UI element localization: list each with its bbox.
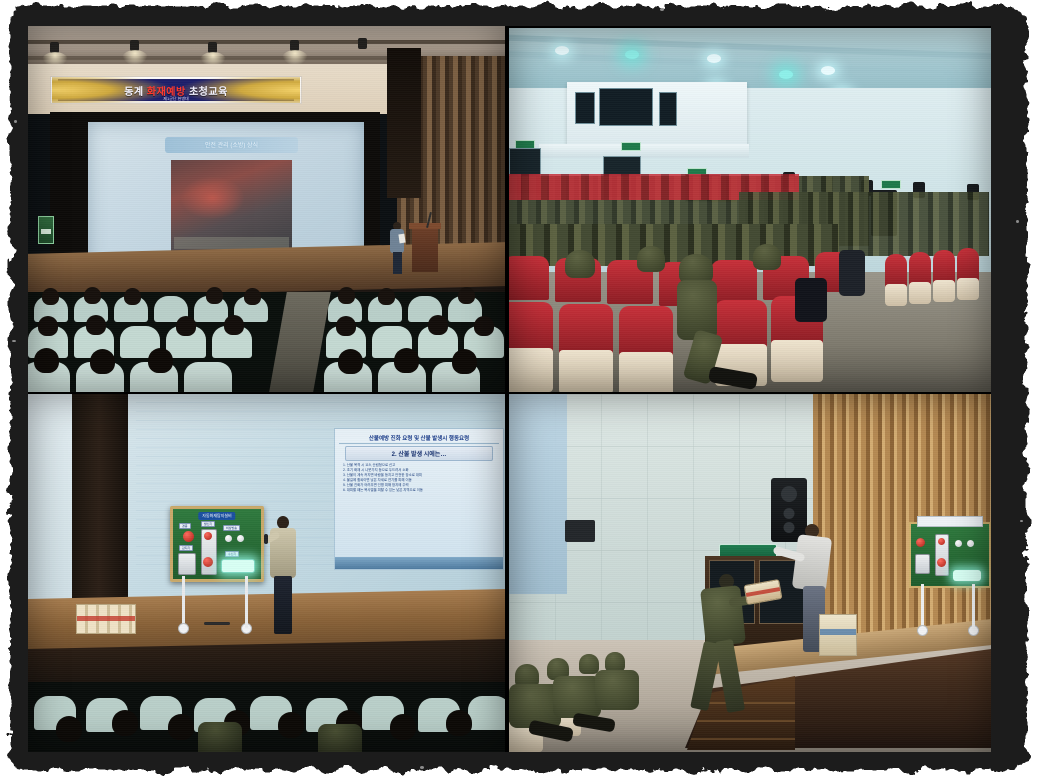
balcony-edge (539, 144, 749, 158)
frame-speckle (1020, 520, 1023, 522)
slide-bullet: 6. 대피할 때는 복사열을 피할 수 있는 낮은 지역으로 이동 (343, 488, 495, 493)
demo-label-bell: 경종 (179, 523, 191, 529)
booth-window (659, 92, 677, 126)
soldier-head (565, 250, 595, 278)
frame-speckle (12, 340, 16, 342)
spotlight-icon (358, 38, 367, 49)
indicator-lamp-icon (938, 538, 945, 545)
audience-area (28, 682, 505, 752)
audience-seating (509, 644, 659, 752)
collage-canvas: 동계 화재예방 초청교육 제1군단 헌병대 안전 관리 (소방) 상식 (0, 0, 1037, 780)
projection-booth (567, 82, 747, 148)
indicator-lamp-icon (204, 532, 212, 540)
downlight-icon (821, 66, 835, 75)
projected-taskbar (335, 557, 503, 569)
frame-speckle (420, 766, 424, 769)
exit-sign-icon (881, 180, 901, 189)
photo-grid: 동계 화재예방 초청교육 제1군단 헌병대 안전 관리 (소방) 상식 (28, 26, 991, 752)
caster-wheel (241, 623, 252, 634)
caster-wheel (968, 625, 979, 636)
demo-label-callpoint: 발신기 (201, 521, 215, 527)
frame-speckle (1016, 220, 1019, 223)
booth-window (575, 92, 595, 124)
seated-person-dark (839, 250, 865, 296)
lectern (412, 226, 438, 272)
detector-panel (915, 554, 930, 574)
slide-title: 산불예방 진화 요령 및 산불 발생시 행동요령 (339, 432, 499, 444)
indicator-strip (953, 570, 981, 581)
photo-bottom-left[interactable]: 산불예방 진화 요령 및 산불 발생시 행동요령 2. 산불 발생 시에는… 1… (28, 394, 505, 752)
demo-label-detector: 감지기 (179, 545, 193, 551)
fire-alarm-demo-board: 자동화재탐지설비 경종 감지기 발신기 비상방송 수신기 (170, 506, 264, 582)
emergency-button-icon (937, 558, 946, 567)
projection-spill (509, 394, 567, 594)
handheld-microphone-icon (264, 534, 268, 544)
presenter (390, 222, 404, 274)
banner-subtitle: 제1군단 헌병대 (163, 96, 188, 102)
fire-extinguisher-cabinet (38, 216, 54, 244)
photo-top-right[interactable] (509, 28, 991, 392)
indicator-lamp-icon (237, 535, 244, 542)
downlight-icon (625, 50, 639, 59)
frame-speckle (14, 120, 17, 123)
slide-heading-bar: 안전 관리 (소방) 상식 (165, 137, 297, 153)
board-stand (919, 584, 977, 636)
audience-area (28, 292, 505, 392)
indicator-lamp-icon (967, 540, 974, 547)
frame-speckle (660, 8, 664, 11)
photo-top-left[interactable]: 동계 화재예방 초청교육 제1군단 헌병대 안전 관리 (소방) 상식 (28, 26, 505, 392)
board-header (917, 516, 983, 527)
side-wall (28, 394, 76, 609)
stage-curtain (387, 48, 421, 198)
backpack (795, 278, 827, 322)
exit-sign-icon (621, 142, 641, 151)
cardboard-carton (819, 614, 857, 656)
booth-window (599, 88, 653, 126)
board-stand (178, 576, 252, 634)
downlight-icon (707, 54, 721, 63)
downlight-icon (555, 46, 569, 55)
slide-heading-text: 안전 관리 (소방) 상식 (205, 140, 258, 149)
ceiling-beam (28, 40, 505, 44)
indicator-lamp-icon (225, 535, 232, 542)
downlight-icon (779, 70, 793, 79)
caster-wheel (178, 623, 189, 634)
banner-text-part1: 동계 (124, 87, 147, 98)
event-banner: 동계 화재예방 초청교육 제1군단 헌병대 (50, 76, 302, 104)
floor-cable (204, 622, 230, 625)
demo-label-receiver: 수신기 (225, 551, 239, 557)
alarm-bell-icon (916, 538, 925, 547)
indicator-strip (221, 559, 255, 573)
presentation-slide: 산불예방 진화 요령 및 산불 발생시 행동요령 2. 산불 발생 시에는… 1… (334, 428, 504, 570)
stage-curtain (72, 394, 132, 609)
demonstration-board (909, 522, 991, 588)
aisle (269, 292, 331, 392)
indicator-lamp-icon (955, 540, 962, 547)
instructor (270, 516, 296, 634)
emergency-button-icon (203, 557, 213, 567)
demo-board-title: 자동화재탐지설비 (198, 512, 235, 520)
slide-subtitle: 2. 산불 발생 시에는… (345, 446, 493, 461)
detector-panel (178, 553, 196, 575)
demo-label-broadcast: 비상방송 (223, 525, 240, 531)
soldier-receiving (695, 574, 751, 714)
alarm-bell-icon (183, 531, 194, 542)
soldier-head (753, 244, 781, 270)
cardboard-box-stack (76, 604, 136, 634)
caster-wheel (917, 625, 928, 636)
banner-text-part2: 초청교육 (186, 87, 228, 98)
soldier-head (637, 246, 665, 272)
slide-bullets: 1. 산불 목격 시 119, 산림청으로 신고 2. 초기 화재 시 나뭇가지… (343, 463, 495, 563)
photo-bottom-right[interactable] (509, 394, 991, 752)
wall-panel-box (565, 520, 595, 542)
